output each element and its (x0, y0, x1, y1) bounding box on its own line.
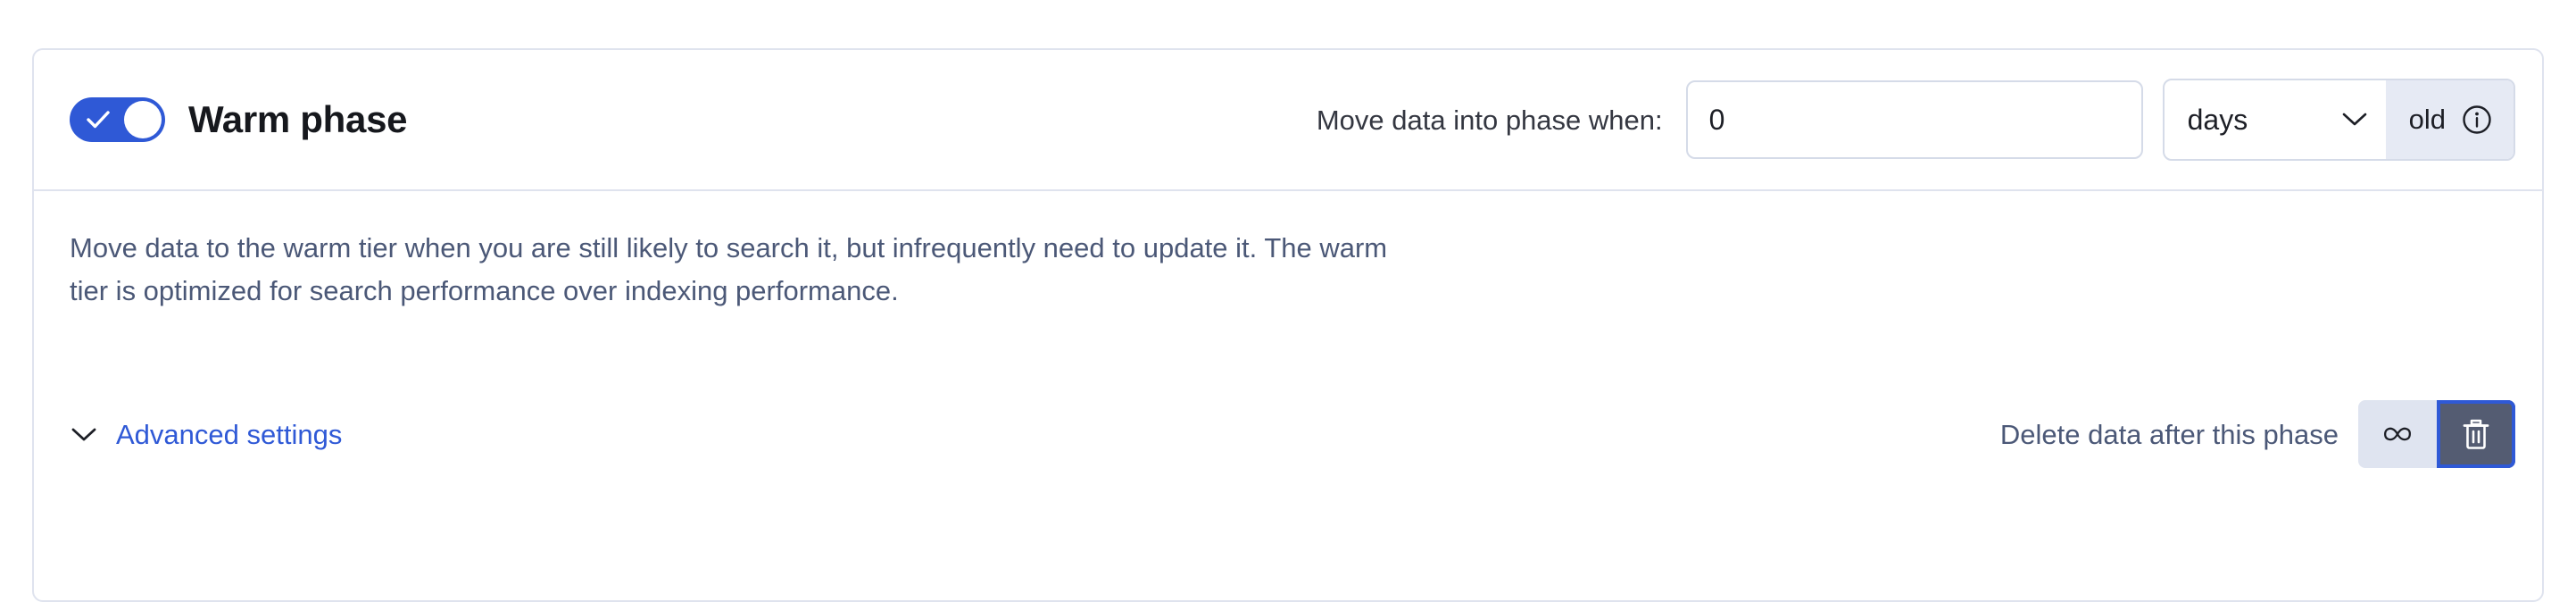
chevron-down-icon (70, 425, 98, 443)
advanced-settings-label: Advanced settings (116, 421, 342, 448)
advanced-settings-toggle[interactable]: Advanced settings (70, 421, 342, 448)
warm-phase-card: Warm phase Move data into phase when: da… (32, 48, 2544, 602)
move-data-label: Move data into phase when: (1317, 106, 1663, 134)
infinity-icon (2380, 424, 2415, 444)
min-age-input[interactable] (1686, 80, 2143, 159)
warm-phase-toggle[interactable] (70, 97, 165, 142)
delete-data-button-group (2358, 400, 2515, 468)
unit-select-wrap: days (2165, 80, 2386, 159)
unit-input-group: days old (2163, 79, 2515, 161)
unit-append: old (2386, 80, 2514, 159)
phase-footer: Advanced settings Delete data after this… (70, 400, 2515, 468)
keep-data-forever-button[interactable] (2358, 400, 2437, 468)
phase-card-header: Warm phase Move data into phase when: da… (34, 50, 2542, 191)
old-label: old (2409, 104, 2446, 136)
unit-select[interactable]: days (2165, 104, 2386, 136)
trash-icon (2461, 417, 2491, 451)
phase-header-right: Move data into phase when: days (1317, 79, 2515, 161)
phase-card-body: Move data to the warm tier when you are … (34, 191, 2542, 548)
page-title: Warm phase (188, 101, 407, 138)
toggle-knob (124, 101, 162, 138)
screen: Warm phase Move data into phase when: da… (0, 0, 2576, 531)
phase-header-left: Warm phase (70, 97, 407, 142)
delete-data-control: Delete data after this phase (2000, 400, 2515, 468)
delete-data-button[interactable] (2437, 400, 2515, 468)
phase-description: Move data to the warm tier when you are … (70, 227, 1408, 314)
delete-data-label: Delete data after this phase (2000, 421, 2339, 448)
info-circle-icon[interactable] (2462, 105, 2492, 135)
check-icon (87, 109, 110, 130)
